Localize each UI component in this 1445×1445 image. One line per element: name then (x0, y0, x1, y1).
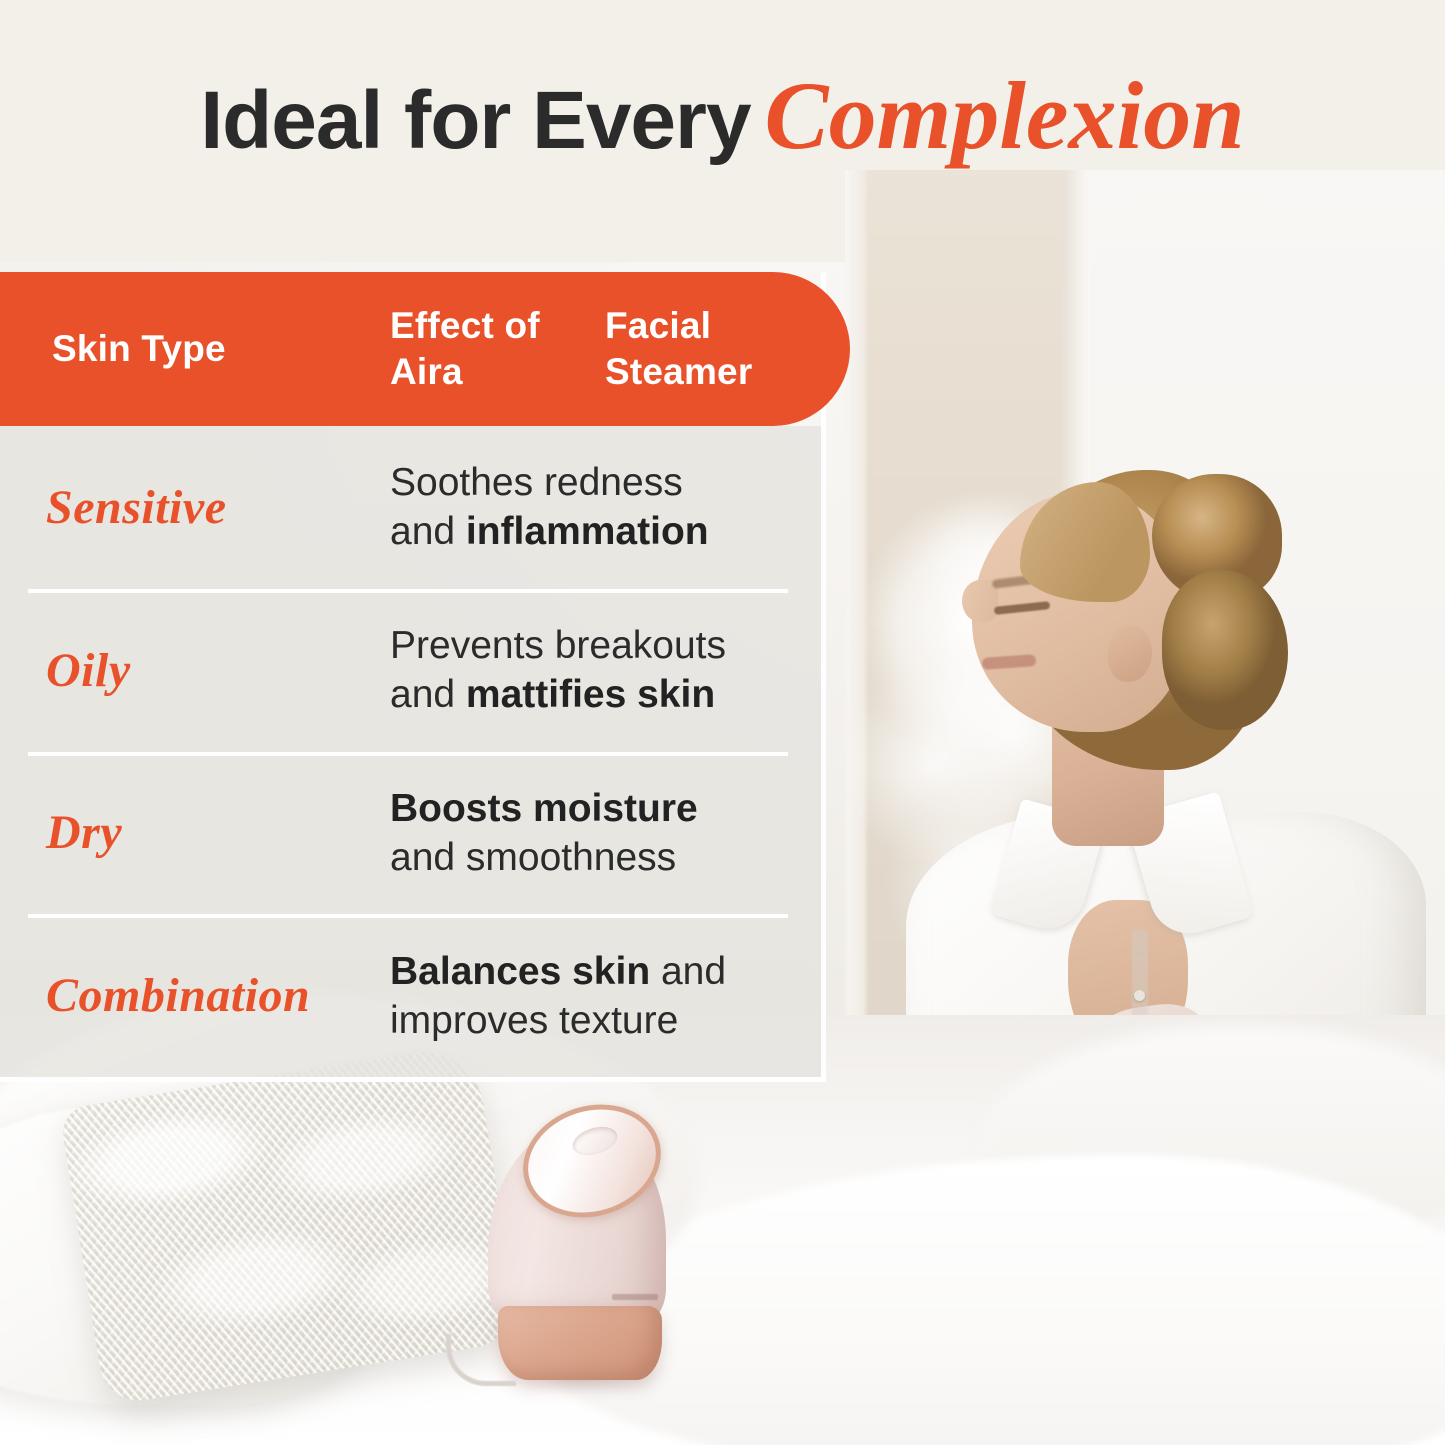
hair-bun-lower (1162, 570, 1288, 730)
page-title: Ideal for EveryComplexion (0, 66, 1445, 166)
table-header-effect-line2: Facial Steamer (605, 303, 850, 396)
table-header-effect-line1: Effect of Aira (390, 303, 605, 396)
skin-type-label: Oily (46, 643, 376, 698)
table-header-effect: Effect of Aira Facial Steamer (390, 272, 850, 426)
skin-type-label: Dry (46, 805, 376, 860)
poster-canvas: Ideal for EveryComplexion Skin Type Effe… (0, 0, 1445, 1445)
title-part-accent: Complexion (765, 62, 1245, 169)
title-part-primary: Ideal for Every (200, 75, 750, 166)
steamer-water-tank (498, 1306, 662, 1380)
table-row: Combination Balances skin and improves t… (0, 914, 821, 1077)
table-row: Sensitive Soothes redness and inflammati… (0, 426, 821, 589)
table-row: Oily Prevents breakouts and mattifies sk… (0, 589, 821, 752)
effect-description: Balances skin and improves texture (390, 947, 800, 1045)
table-header-skin-type: Skin Type (52, 272, 226, 426)
effect-text: and smoothness (390, 836, 676, 879)
brand-mark (612, 1294, 658, 1300)
shirt-button (1134, 990, 1145, 1001)
table-header-row: Skin Type Effect of Aira Facial Steamer (0, 272, 850, 426)
facial-steamer-product (480, 1098, 680, 1373)
hair-front (1020, 482, 1150, 602)
table-row: Dry Boosts moisture and smoothness (0, 752, 821, 915)
effect-text: and (390, 673, 466, 716)
effect-description: Boosts moisture and smoothness (390, 784, 800, 882)
effect-description: Prevents breakouts and mattifies skin (390, 621, 800, 719)
effect-text-bold: inflammation (466, 510, 709, 553)
effect-text-bold: Boosts moisture (390, 787, 698, 830)
effect-description: Soothes redness and inflammation (390, 458, 800, 556)
table-body: Sensitive Soothes redness and inflammati… (0, 426, 821, 1077)
skin-type-label: Combination (46, 968, 376, 1023)
skin-type-label: Sensitive (46, 480, 376, 535)
effect-text-bold: mattifies skin (466, 673, 715, 716)
skin-type-table: Skin Type Effect of Aira Facial Steamer … (0, 272, 826, 1082)
effect-text: Prevents breakouts (390, 624, 726, 667)
effect-text: and (390, 510, 466, 553)
effect-text: Soothes redness (390, 461, 683, 504)
effect-text-bold: Balances skin (390, 950, 650, 993)
